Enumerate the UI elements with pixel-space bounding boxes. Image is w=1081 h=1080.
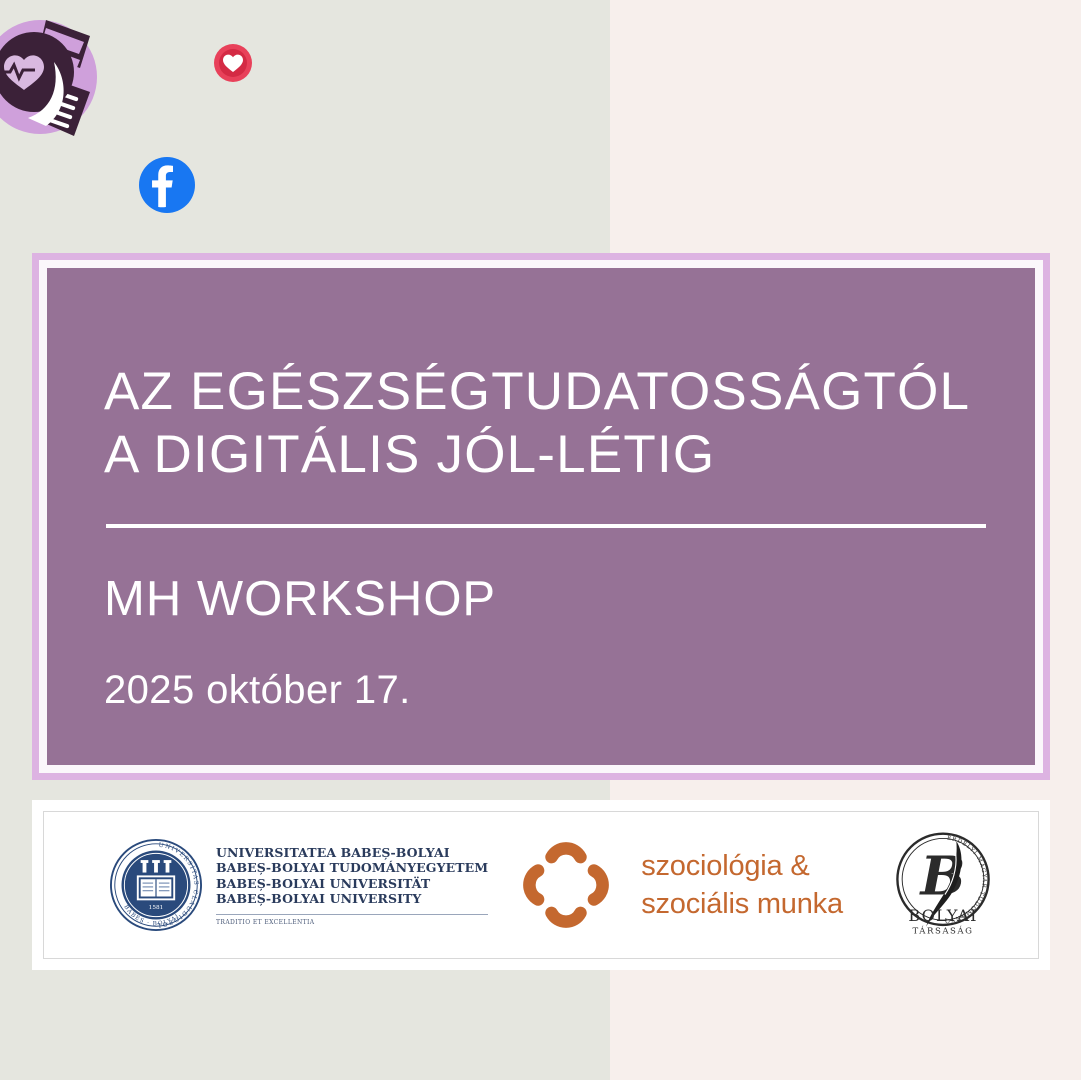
bbu-seal-icon: 1581 UNIVERSITAS CLAUDIOPOLITANA BABEȘ ·… (110, 839, 202, 931)
bbu-line-hu: BABEȘ-BOLYAI TUDOMÁNYEGYETEM (216, 860, 488, 876)
sociology-label: szociológia & szociális munka (641, 847, 843, 923)
logo-bolyai-tarsasag: ERDÉLYI MAGYAR TUDOMÁNYOS TÁRSASÁG B BOL… (886, 810, 1040, 960)
bbu-line-en: BABEȘ-BOLYAI UNIVERSITY (216, 891, 488, 907)
bbu-motto: TRADITIO ET EXCELLENTIA (216, 914, 488, 926)
sponsor-logo-bar: 1581 UNIVERSITAS CLAUDIOPOLITANA BABEȘ ·… (32, 800, 1050, 970)
bbu-line-ro: UNIVERSITATEA BABEȘ-BOLYAI (216, 845, 488, 861)
event-poster: AZ EGÉSZSÉGTUDATOSSÁGTÓL A DIGITÁLIS JÓL… (0, 0, 1081, 1080)
main-event-card: AZ EGÉSZSÉGTUDATOSSÁGTÓL A DIGITÁLIS JÓL… (32, 253, 1050, 780)
logo-babes-bolyai-university: 1581 UNIVERSITAS CLAUDIOPOLITANA BABEȘ ·… (42, 810, 488, 960)
facebook-icon[interactable] (138, 156, 196, 214)
card-content: AZ EGÉSZSÉGTUDATOSSÁGTÓL A DIGITÁLIS JÓL… (104, 268, 995, 765)
logo-sociology-social-work: szociológia & szociális munka (488, 810, 886, 960)
bolyai-seal-icon: ERDÉLYI MAGYAR TUDOMÁNYOS TÁRSASÁG B BOL… (886, 826, 1000, 944)
title-divider (106, 524, 986, 528)
bbu-name-block: UNIVERSITATEA BABEȘ-BOLYAI BABEȘ-BOLYAI … (216, 845, 488, 926)
smartwatch-heart-icon (0, 10, 98, 144)
card-inner-panel: AZ EGÉSZSÉGTUDATOSSÁGTÓL A DIGITÁLIS JÓL… (47, 268, 1035, 765)
heart-reaction-icon (213, 43, 253, 83)
svg-text:1581: 1581 (149, 905, 164, 911)
page-title: AZ EGÉSZSÉGTUDATOSSÁGTÓL A DIGITÁLIS JÓL… (104, 360, 995, 486)
sociology-people-icon (513, 832, 619, 938)
bolyai-subtitle: TÁRSASÁG (913, 924, 974, 936)
event-date: 2025 október 17. (104, 668, 411, 713)
bbu-line-de: BABEȘ-BOLYAI UNIVERSITÄT (216, 876, 488, 892)
event-subtitle: MH WORKSHOP (104, 571, 496, 627)
bolyai-title: BOLYAI (908, 906, 977, 925)
